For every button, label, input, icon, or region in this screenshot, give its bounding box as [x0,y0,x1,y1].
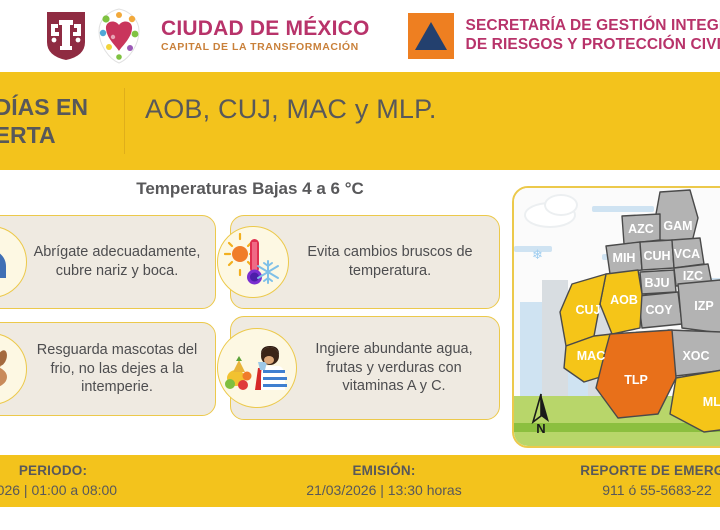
footer-reporte-label: REPORTE DE EMERGE [542,462,720,480]
sgirpc-wordmark: SECRETARÍA DE GESTIÓN INTEGRAL DE RIESGO… [466,17,720,55]
map-label-mac: MAC [577,349,605,363]
map-label-cuj: CUJ [575,303,600,317]
footer-reporte-emergencias: REPORTE DE EMERGE 911 ó 55-5683-22 [542,462,720,499]
civil-protection-triangle-icon [408,13,454,59]
map-label-vca: VCA [674,247,700,261]
map-label-tlp: TLP [624,373,648,387]
sgirpc-line2: DE RIESGOS Y PROTECCIÓN CIVIL [466,36,720,55]
recommendation-card: Evita cambios bruscos de temperatura. [230,215,500,309]
map-label-mih: MIH [613,251,636,265]
cdmx-floral-emblem-icon [95,7,143,65]
map-label-aob: AOB [610,293,638,307]
alert-label: ALDÍAS EN ALERTA [0,93,120,149]
temperature-title: Temperaturas Bajas 4 a 6 °C [0,179,500,199]
map-label-azc: AZC [628,222,654,236]
footer-emision: EMISIÓN: 21/03/2026 | 13:30 horas [278,462,490,499]
cdmx-logo-group: CIUDAD DE MÉXICO CAPITAL DE LA TRANSFORM… [45,7,370,65]
recommendation-card: Abrígate adecuadamente, cubre nariz y bo… [0,215,216,309]
footer-periodo: PERIODO: 2026 | 01:00 a 08:00 [0,462,158,499]
map-label-gam: GAM [663,219,692,233]
map-label-izc: IZC [683,269,703,283]
footer-reporte-value: 911 ó 55-5683-22 [542,481,720,500]
footer-emision-value: 21/03/2026 | 13:30 horas [278,481,490,500]
footer-emision-label: EMISIÓN: [278,462,490,480]
alert-label-line2: ALERTA [0,121,120,149]
coat-scarf-icon [0,226,27,298]
page-footer: PERIODO: 2026 | 01:00 a 08:00 EMISIÓN: 2… [0,455,720,507]
map-label-cuh: CUH [643,249,670,263]
sgirpc-line1: SECRETARÍA DE GESTIÓN INTEGRAL [466,17,720,36]
alert-banner: ALDÍAS EN ALERTA AOB, CUJ, MAC y MLP. [0,72,720,170]
girl-drinking-water-fruits-icon [217,328,297,408]
cdmx-coat-of-arms-icon [45,10,87,62]
alert-label-line1: ALDÍAS EN [0,93,120,121]
compass-label: N [536,421,545,434]
recommendation-card: Resguarda mascotas del frio, no las deje… [0,322,216,416]
map-label-bju: BJU [644,276,669,290]
recommendation-card: Ingiere abundante agua, frutas y verdura… [230,316,500,420]
map-label-mlp: MLP [703,395,720,409]
cdmx-title: CIUDAD DE MÉXICO [161,18,370,40]
cdmx-wordmark: CIUDAD DE MÉXICO CAPITAL DE LA TRANSFORM… [161,18,370,55]
recommendation-text: Abrígate adecuadamente, cubre nariz y bo… [0,243,215,280]
alert-banner-divider [124,88,125,154]
alert-boroughs-list: AOB, CUJ, MAC y MLP. [145,94,437,125]
map-label-izp: IZP [694,299,713,313]
recommendation-text: Resguarda mascotas del frio, no las deje… [0,341,215,397]
footer-periodo-label: PERIODO: [0,462,158,480]
footer-whitespace [0,507,720,530]
alert-map-panel: ❄ ❄ ❄ ❄ [512,186,720,448]
page-header: CIUDAD DE MÉXICO CAPITAL DE LA TRANSFORM… [0,0,720,72]
sun-thermometer-snowflake-icon [217,226,289,298]
north-arrow-icon: N [522,392,560,434]
cdmx-tagline: CAPITAL DE LA TRANSFORMACIÓN [161,41,370,55]
footer-periodo-value: 2026 | 01:00 a 08:00 [0,481,158,500]
map-label-coy: COY [645,303,673,317]
map-label-xoc: XOC [682,349,709,363]
